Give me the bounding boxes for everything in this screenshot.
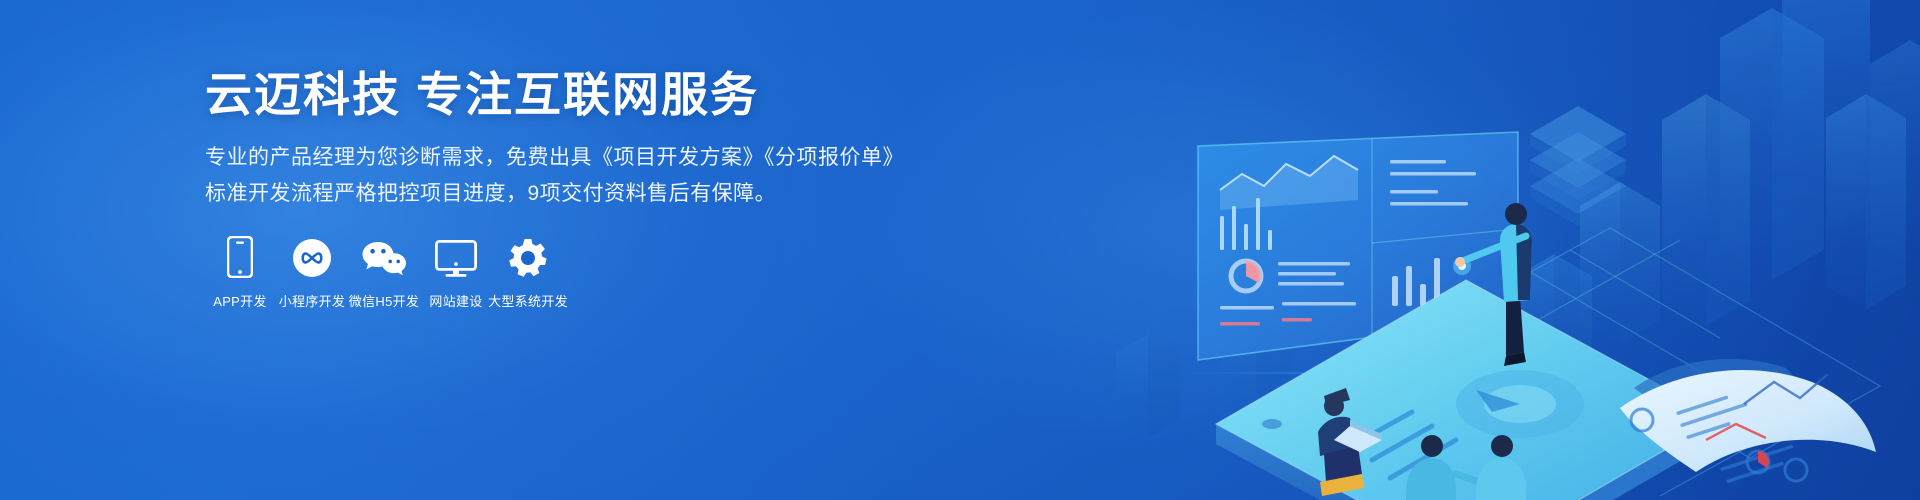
service-label: APP开发 [213, 291, 267, 310]
subtitle-line-1: 专业的产品经理为您诊断需求，免费出具《项目开发方案》《分项报价单》 [205, 147, 904, 168]
service-item-app[interactable]: APP开发 [205, 232, 275, 310]
subtitle-line-2: 标准开发流程严格把控项目进度，9项交付资料售后有保障。 [205, 183, 776, 204]
banner-content: 云迈科技 专注互联网服务 专业的产品经理为您诊断需求，免费出具《项目开发方案》《… [205, 0, 905, 500]
service-item-system[interactable]: 大型系统开发 [493, 232, 563, 310]
wechat-icon [361, 232, 407, 278]
service-label: 网站建设 [429, 291, 482, 310]
service-label: 小程序开发 [279, 291, 346, 310]
gear-icon [508, 232, 548, 278]
service-label: 微信H5开发 [349, 291, 419, 310]
service-item-miniprogram[interactable]: 小程序开发 [277, 232, 347, 310]
service-item-website[interactable]: 网站建设 [421, 232, 491, 310]
illustration [920, 0, 1920, 500]
service-item-wechat[interactable]: 微信H5开发 [349, 232, 419, 310]
promo-banner: 云迈科技 专注互联网服务 专业的产品经理为您诊断需求，免费出具《项目开发方案》《… [0, 0, 1920, 500]
service-label: 大型系统开发 [488, 291, 568, 310]
mobile-phone-icon [227, 232, 253, 278]
service-list: APP开发 小程序开发 [205, 232, 563, 310]
monitor-icon [435, 232, 477, 278]
mini-program-icon [292, 232, 332, 278]
page-title: 云迈科技 专注互联网服务 [205, 70, 759, 119]
